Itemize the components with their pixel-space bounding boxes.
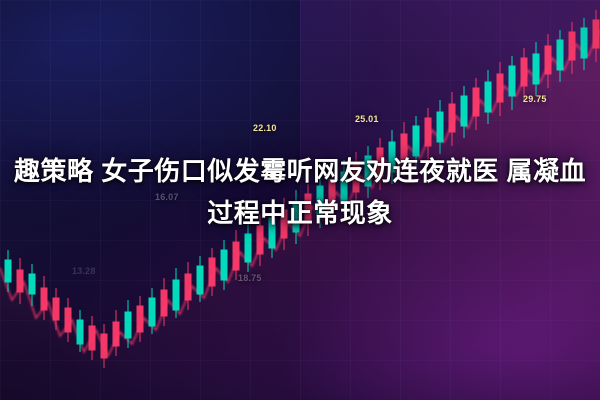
headline-text: 趣策略 女子伤口似发霉听网友劝连夜就医 属凝血 过程中正常现象 (0, 150, 600, 234)
headline-line-1: 趣策略 女子伤口似发霉听网友劝连夜就医 属凝血 (0, 150, 600, 192)
screenshot-canvas: 29.75 25.01 22.10 18.75 16.07 13.28 趣策略 … (0, 0, 600, 400)
headline-line-2: 过程中正常现象 (0, 192, 600, 234)
